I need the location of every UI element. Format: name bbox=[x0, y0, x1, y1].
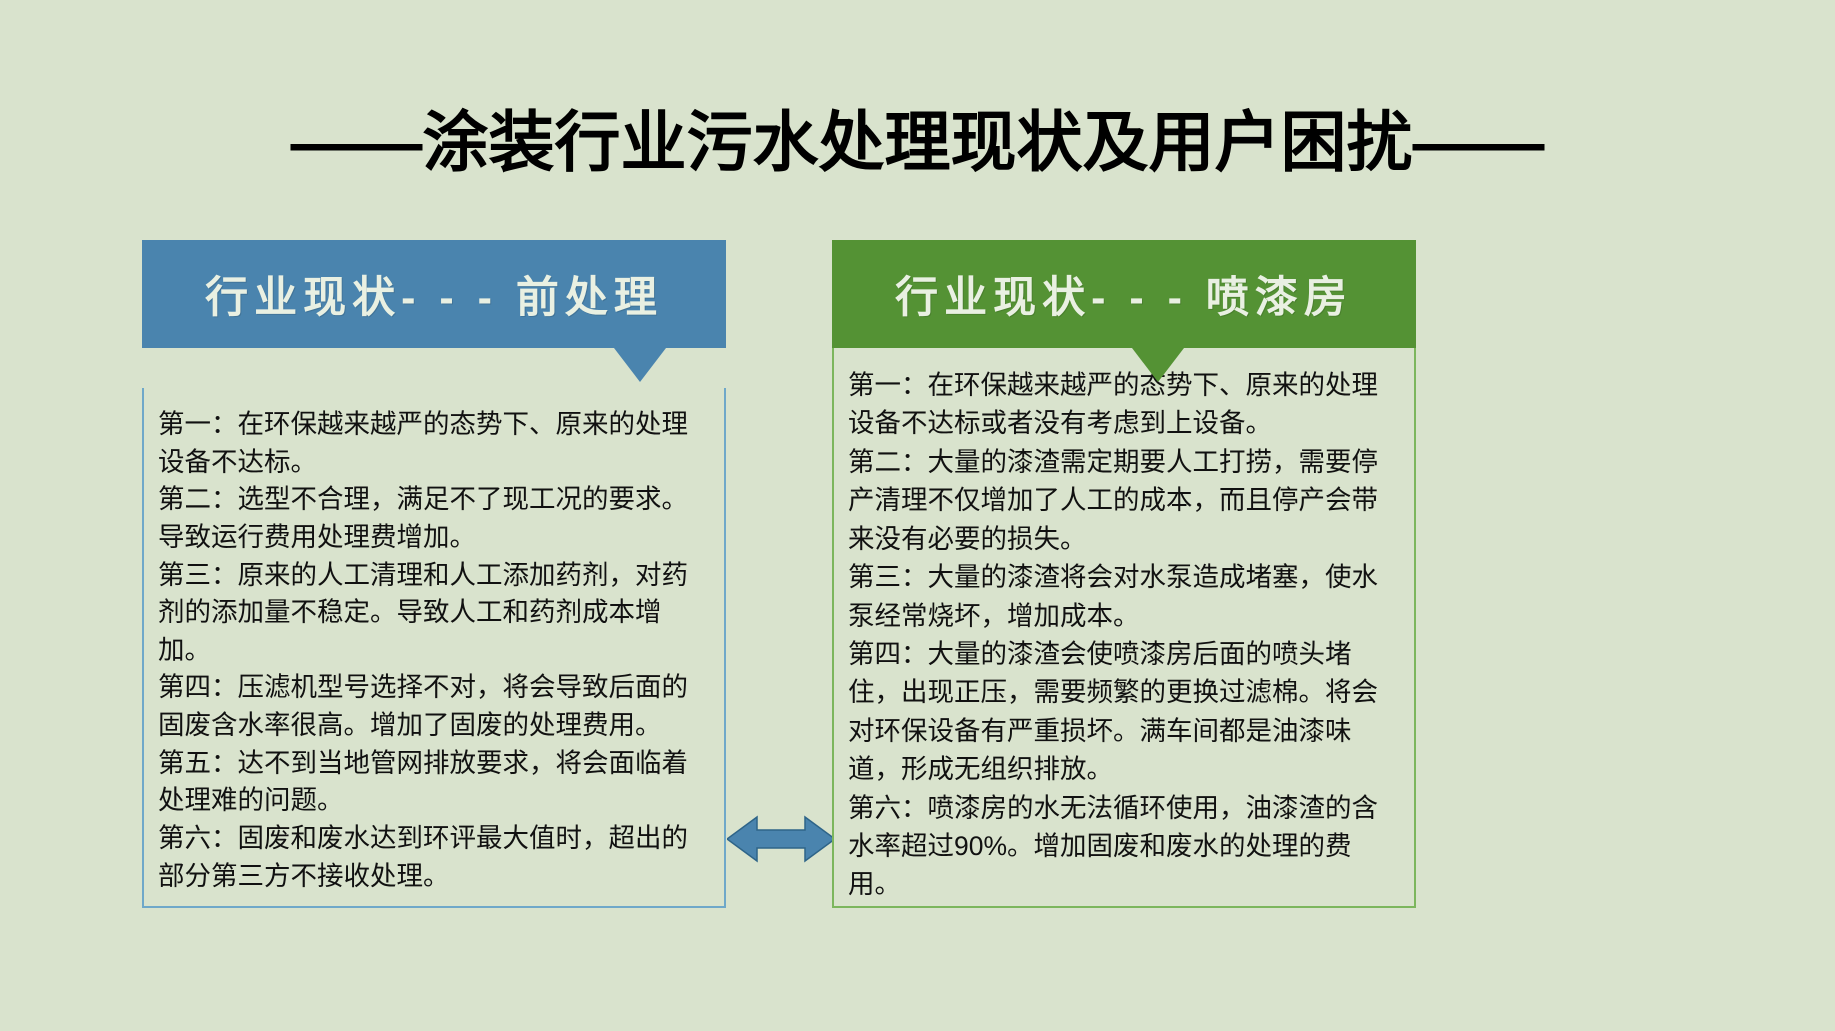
card-pretreatment-body-text: 第一：在环保越来越严的态势下、原来的处理设备不达标。 第二：选型不合理，满足不了… bbox=[158, 406, 710, 895]
card-pretreatment-header-label: 行业现状- - - 前处理 bbox=[205, 263, 663, 325]
card-spray-booth-header: 行业现状- - - 喷漆房 bbox=[832, 240, 1416, 348]
title-container: ——涂装行业污水处理现状及用户困扰—— bbox=[0, 62, 1835, 223]
page-title: ——涂装行业污水处理现状及用户困扰—— bbox=[291, 106, 1545, 179]
cards-container: 行业现状- - - 前处理 第一：在环保越来越严的态势下、原来的处理设备不达标。… bbox=[0, 240, 1835, 940]
card-spray-booth-body-text: 第一：在环保越来越严的态势下、原来的处理设备不达标或者没有考虑到上设备。 第二：… bbox=[848, 366, 1400, 904]
card-pretreatment-body: 第一：在环保越来越严的态势下、原来的处理设备不达标。 第二：选型不合理，满足不了… bbox=[142, 388, 726, 908]
card-pretreatment: 行业现状- - - 前处理 第一：在环保越来越严的态势下、原来的处理设备不达标。… bbox=[142, 240, 726, 908]
card-spray-booth-body: 第一：在环保越来越严的态势下、原来的处理设备不达标或者没有考虑到上设备。 第二：… bbox=[832, 348, 1416, 908]
speech-pointer-icon bbox=[1132, 348, 1184, 382]
card-pretreatment-header: 行业现状- - - 前处理 bbox=[142, 240, 726, 348]
card-spray-booth: 行业现状- - - 喷漆房 第一：在环保越来越严的态势下、原来的处理设备不达标或… bbox=[832, 240, 1416, 908]
speech-pointer-icon bbox=[614, 348, 666, 382]
connector-arrow bbox=[727, 810, 835, 868]
slide-canvas: ——涂装行业污水处理现状及用户困扰—— 行业现状- - - 前处理 第一：在环保… bbox=[0, 0, 1835, 1031]
card-spray-booth-header-label: 行业现状- - - 喷漆房 bbox=[895, 263, 1353, 325]
double-headed-horizontal-arrow-icon bbox=[727, 810, 835, 868]
